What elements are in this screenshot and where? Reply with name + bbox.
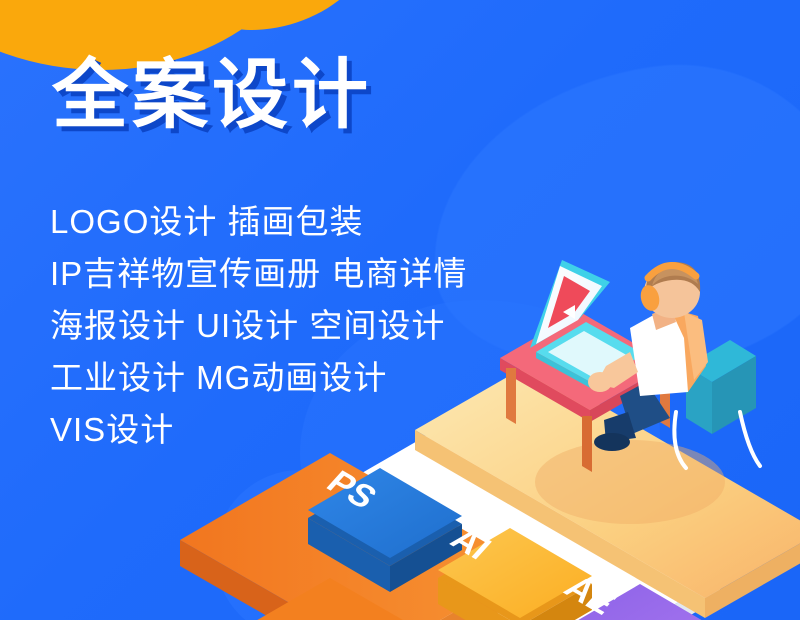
service-list-item: LOGO设计 插画包装: [50, 196, 570, 248]
poster-canvas: 全案设计 LOGO设计 插画包装 IP吉祥物宣传画册 电商详情 海报设计 UI设…: [0, 0, 800, 620]
orange-blob-shape-secondary: [170, 0, 390, 30]
service-list-item: IP吉祥物宣传画册 电商详情: [50, 248, 570, 300]
page-title: 全案设计: [52, 58, 372, 134]
scene-desk-workspace: [500, 260, 760, 524]
page-title-text: 全案设计: [52, 58, 372, 134]
illustration-isometric-workspace: PS AI AE: [200, 300, 800, 620]
